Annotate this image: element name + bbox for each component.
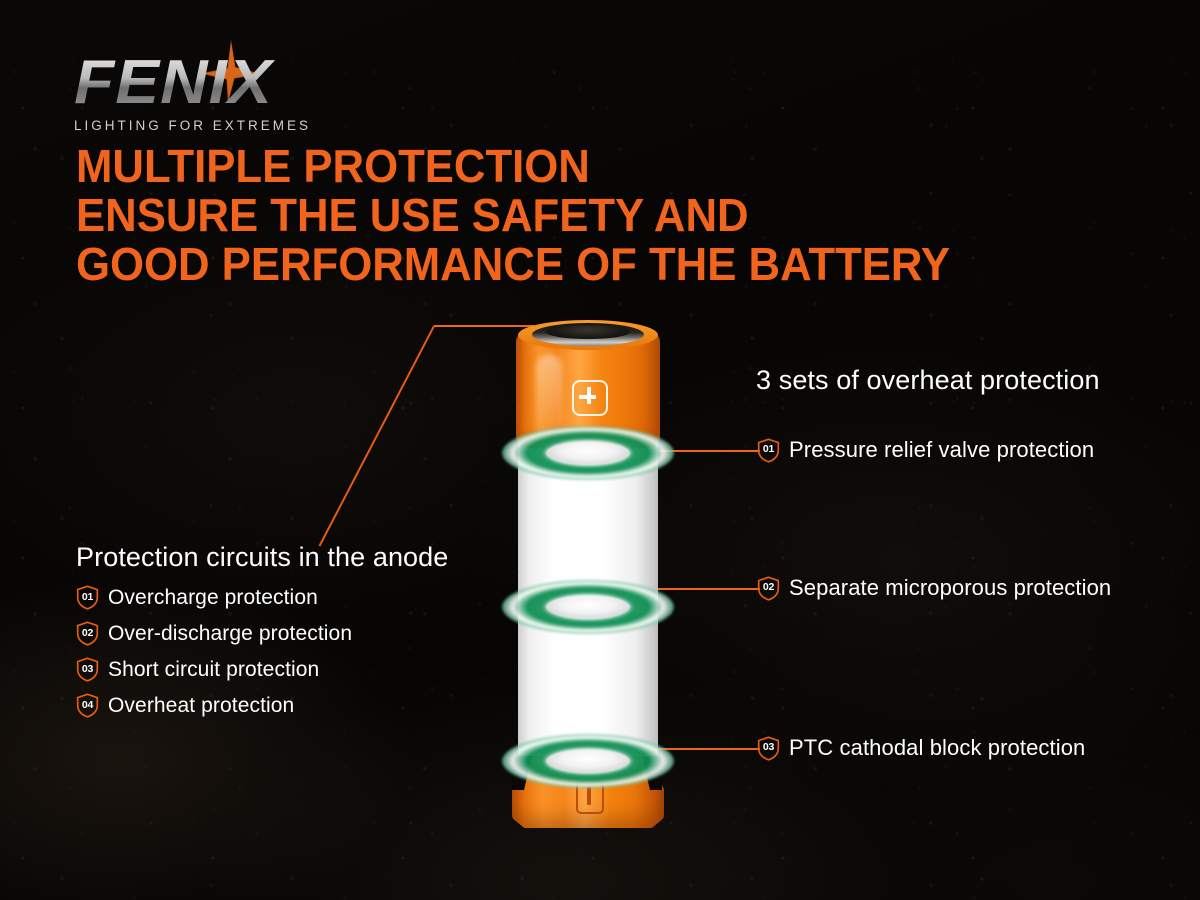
right-list-item-label: Pressure relief valve protection [789, 437, 1094, 463]
battery-cell-body [518, 436, 658, 766]
left-list-item-01: 01 Overcharge protection [76, 585, 318, 610]
shield-icon: 02 [757, 576, 780, 601]
shield-icon: 04 [76, 693, 99, 718]
left-list-item-04: 04 Overheat protection [76, 693, 294, 718]
left-list-item-label: Over-discharge protection [108, 622, 352, 646]
headline-line-3: GOOD PERFORMANCE OF THE BATTERY [76, 240, 950, 289]
battery-illustration [510, 318, 666, 828]
left-list-item-label: Overheat protection [108, 694, 294, 718]
right-list-item-03: 03 PTC cathodal block protection [757, 735, 1085, 761]
shield-number: 02 [757, 576, 780, 601]
left-list-item-02: 02 Over-discharge protection [76, 621, 352, 646]
right-list-item-label: Separate microporous protection [789, 575, 1111, 601]
shield-icon: 01 [757, 438, 780, 463]
left-list-item-03: 03 Short circuit protection [76, 657, 319, 682]
left-list-item-label: Overcharge protection [108, 586, 318, 610]
cap-gloss-highlight [536, 354, 562, 438]
shield-number: 03 [76, 657, 99, 682]
minus-icon [576, 780, 604, 814]
shield-icon: 01 [76, 585, 99, 610]
logo-tagline: LIGHTING FOR EXTREMES [74, 118, 374, 133]
plus-icon [572, 380, 608, 416]
right-panel-title: 3 sets of overheat protection [756, 365, 1100, 396]
right-list-item-02: 02 Separate microporous protection [757, 575, 1111, 601]
right-list-item-01: 01 Pressure relief valve protection [757, 437, 1094, 463]
headline-line-2: ENSURE THE USE SAFETY AND [76, 191, 950, 240]
page-title: MULTIPLE PROTECTION ENSURE THE USE SAFET… [76, 142, 950, 289]
shield-number: 01 [757, 438, 780, 463]
left-panel-title: Protection circuits in the anode [76, 542, 448, 573]
infographic-canvas: FENIX LIGHTING FOR EXTREMES MULTIPLE PRO… [0, 0, 1200, 900]
headline-line-1: MULTIPLE PROTECTION [76, 142, 950, 191]
shield-icon: 03 [76, 657, 99, 682]
shield-icon: 03 [757, 736, 780, 761]
right-list-item-label: PTC cathodal block protection [789, 735, 1085, 761]
shield-icon: 02 [76, 621, 99, 646]
shield-number: 03 [757, 736, 780, 761]
logo-wordmark: FENIX [74, 52, 392, 114]
connector-line-anode-diagonal [319, 326, 435, 547]
fenix-logo: FENIX LIGHTING FOR EXTREMES [74, 52, 374, 138]
shield-number: 01 [76, 585, 99, 610]
battery-terminal-core [546, 325, 630, 339]
connector-line-01 [652, 450, 760, 452]
shield-number: 04 [76, 693, 99, 718]
left-list-item-label: Short circuit protection [108, 658, 319, 682]
shield-number: 02 [76, 621, 99, 646]
connector-line-02 [652, 588, 760, 590]
